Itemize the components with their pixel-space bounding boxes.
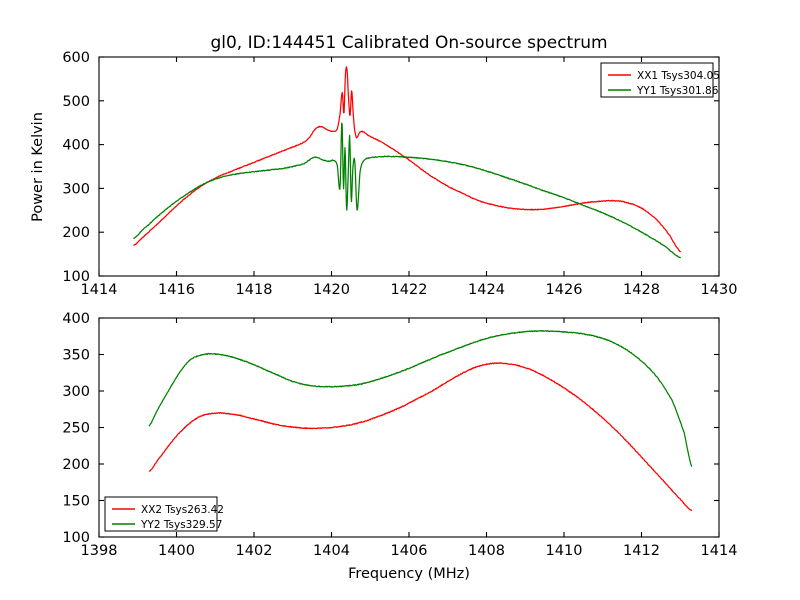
x-tick-label-top: 1418: [236, 282, 273, 298]
y-tick-label-top: 600: [62, 50, 90, 66]
y-tick-label-bottom: 350: [62, 348, 90, 364]
y-tick-label-bottom: 100: [62, 530, 90, 546]
y-tick-label-bottom: 200: [62, 457, 90, 473]
x-tick-label-top: 1422: [391, 282, 428, 298]
y-axis-label-top: Power in Kelvin: [30, 112, 46, 222]
y-tick-label-top: 100: [62, 269, 90, 285]
y-tick-label-top: 400: [62, 138, 90, 154]
x-tick-label-bottom: 1400: [158, 543, 195, 559]
y-tick-label-bottom: 150: [62, 494, 90, 510]
y-tick-label-top: 500: [62, 94, 90, 110]
legend-label-xx1: XX1 Tsys304.05: [637, 70, 720, 82]
x-tick-label-bottom: 1412: [623, 543, 660, 559]
y-tick-label-bottom: 250: [62, 421, 90, 437]
series-line-yy2: [149, 331, 691, 467]
x-tick-label-bottom: 1406: [391, 543, 428, 559]
series-line-xx2: [149, 363, 691, 511]
x-tick-label-bottom: 1410: [546, 543, 583, 559]
x-tick-label-top: 1424: [468, 282, 505, 298]
x-tick-label-top: 1426: [546, 282, 583, 298]
legend-label-yy1: YY1 Tsys301.86: [636, 85, 719, 97]
y-tick-label-bottom: 300: [62, 384, 90, 400]
y-tick-label-bottom: 400: [62, 311, 90, 327]
x-tick-label-bottom: 1404: [313, 543, 350, 559]
y-tick-label-top: 300: [62, 181, 90, 197]
x-tick-label-bottom: 1414: [701, 543, 738, 559]
figure-title: gl0, ID:144451 Calibrated On-source spec…: [210, 33, 607, 53]
y-tick-label-top: 200: [62, 225, 90, 241]
series-line-xx1: [134, 67, 680, 252]
x-tick-label-top: 1428: [623, 282, 660, 298]
x-tick-label-bottom: 1402: [236, 543, 273, 559]
legend-label-xx2: XX2 Tsys263.42: [141, 504, 224, 516]
legend-label-yy2: YY2 Tsys329.57: [140, 519, 222, 531]
x-tick-label-top: 1416: [158, 282, 195, 298]
x-axis-label: Frequency (MHz): [348, 566, 470, 582]
x-tick-label-top: 1420: [313, 282, 350, 298]
series-line-yy1: [134, 123, 680, 258]
spectrum-plot: gl0, ID:144451 Calibrated On-source spec…: [0, 0, 800, 600]
x-tick-label-top: 1430: [701, 282, 738, 298]
x-tick-label-bottom: 1408: [468, 543, 505, 559]
figure-canvas: gl0, ID:144451 Calibrated On-source spec…: [0, 0, 800, 600]
